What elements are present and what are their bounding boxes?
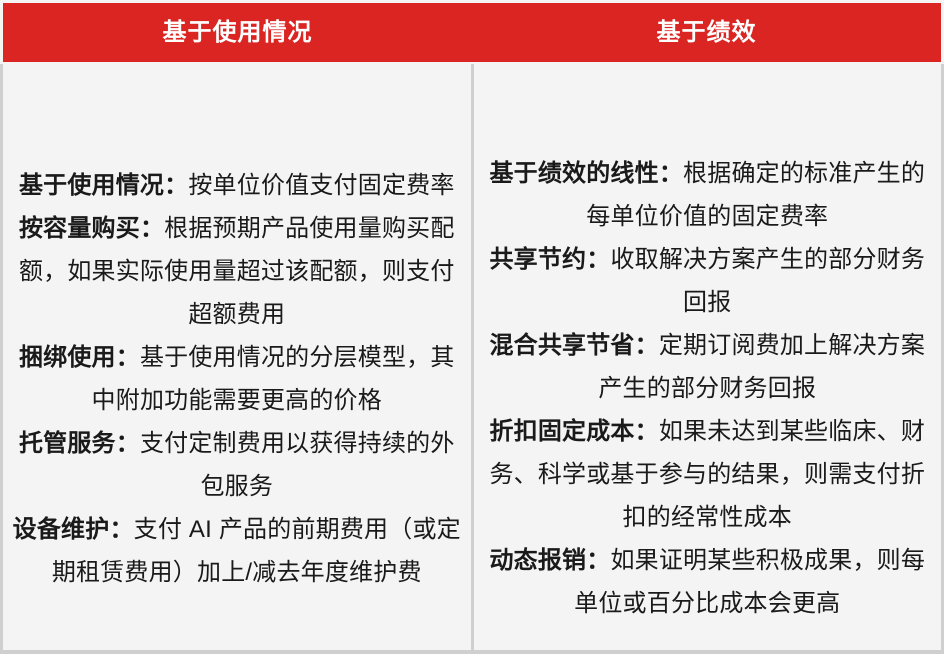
entry-separator: ：	[164, 172, 188, 199]
list-item: 共享节约：收取解决方案产生的部分财务回报	[482, 238, 934, 324]
entry-term: 折扣固定成本	[489, 418, 634, 445]
entry-separator: ：	[116, 344, 140, 371]
entry-description: 支付定制费用以获得持续的外包服务	[140, 430, 455, 500]
entry-term: 托管服务	[19, 430, 116, 457]
entry-separator: ：	[659, 160, 683, 187]
entry-separator: ：	[109, 516, 133, 543]
entry-description: 按单位价值支付固定费率	[188, 172, 454, 199]
entry-separator: ：	[635, 332, 659, 359]
comparison-table: 基于使用情况 基于绩效 基于使用情况：按单位价值支付固定费率 按容量购买：根据预…	[0, 0, 944, 654]
list-item: 混合共享节省：定期订阅费加上解决方案产生的部分财务回报	[482, 324, 934, 410]
entry-term: 动态报销	[489, 547, 586, 574]
entry-term: 按容量购买	[19, 215, 140, 242]
entry-separator: ：	[116, 430, 140, 457]
entry-term: 基于绩效的线性	[489, 160, 658, 187]
entry-description: 如果证明某些积极成果，则每单位或百分比成本会更高	[574, 547, 925, 617]
entry-separator: ：	[140, 215, 164, 242]
list-item: 折扣固定成本：如果未达到某些临床、财务、科学或基于参与的结果，则需支付折扣的经常…	[482, 410, 934, 539]
list-item: 动态报销：如果证明某些积极成果，则每单位或百分比成本会更高	[482, 539, 934, 625]
table-body-row: 基于使用情况：按单位价值支付固定费率 按容量购买：根据预期产品使用量购买配额，如…	[0, 64, 944, 654]
column-header-performance-based: 基于绩效	[472, 3, 941, 62]
entry-separator: ：	[586, 246, 610, 273]
column-body-usage-based: 基于使用情况：按单位价值支付固定费率 按容量购买：根据预期产品使用量购买配额，如…	[3, 64, 471, 650]
entry-term: 混合共享节省	[489, 332, 634, 359]
list-item: 托管服务：支付定制费用以获得持续的外包服务	[11, 422, 463, 508]
list-item: 设备维护：支付 AI 产品的前期费用（或定期租赁费用）加上/减去年度维护费	[11, 508, 463, 594]
entry-term: 设备维护	[13, 516, 110, 543]
table-header-row: 基于使用情况 基于绩效	[3, 3, 941, 62]
entry-term: 捆绑使用	[19, 344, 116, 371]
entry-separator: ：	[635, 418, 659, 445]
entry-term: 共享节约	[489, 246, 586, 273]
column-header-usage-based: 基于使用情况	[3, 3, 472, 62]
column-body-performance-based: 基于绩效的线性：根据确定的标准产生的每单位价值的固定费率 共享节约：收取解决方案…	[474, 64, 942, 650]
list-item: 基于绩效的线性：根据确定的标准产生的每单位价值的固定费率	[482, 152, 934, 238]
entry-term: 基于使用情况	[19, 172, 164, 199]
entry-description: 收取解决方案产生的部分财务回报	[610, 246, 925, 316]
list-item: 基于使用情况：按单位价值支付固定费率	[11, 164, 463, 207]
list-item: 按容量购买：根据预期产品使用量购买配额，如果实际使用量超过该配额，则支付超额费用	[11, 207, 463, 336]
entry-description: 基于使用情况的分层模型，其中附加功能需要更高的价格	[92, 344, 455, 414]
list-item: 捆绑使用：基于使用情况的分层模型，其中附加功能需要更高的价格	[11, 336, 463, 422]
entry-separator: ：	[586, 547, 610, 574]
